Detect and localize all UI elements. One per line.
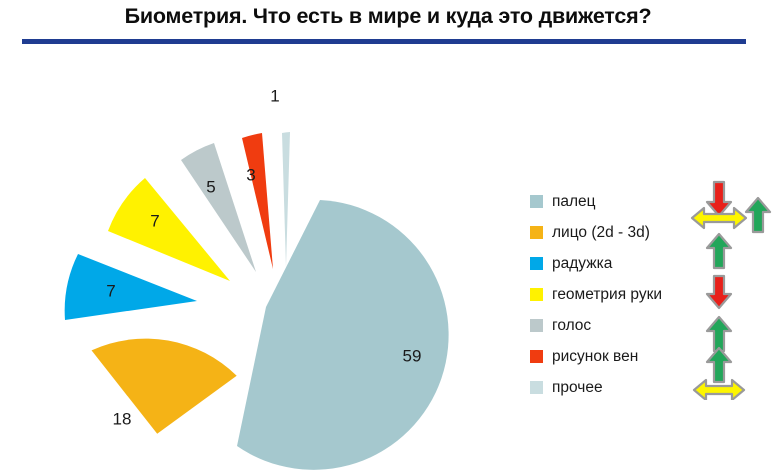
legend-label-vein-pattern: рисунок вен [552,349,638,365]
pie-slice-iris[interactable] [65,254,197,320]
legend-item-iris[interactable]: радужка [530,248,680,279]
trend-arrow-column [686,180,776,400]
arrow-down-icon [707,182,731,216]
legend-swatch-iris [530,257,543,270]
trend-arrows-svg [686,180,776,400]
legend-swatch-finger [530,195,543,208]
pie-label-voice: 5 [206,177,215,196]
pie-label-face: 18 [113,409,132,428]
pie-chart: 59 18 7 7 5 3 1 [0,52,510,472]
pie-slice-face[interactable] [84,332,240,441]
legend-label-voice: голос [552,318,591,334]
legend-label-iris: радужка [552,256,612,272]
legend-item-finger[interactable]: палец [530,186,680,217]
legend-swatch-vein-pattern [530,350,543,363]
header: Биометрия. Что есть в мире и куда это дв… [0,0,776,50]
arrow-up-icon [707,348,731,382]
legend-swatch-hand-geometry [530,288,543,301]
pie-label-hand-geometry: 7 [150,211,159,230]
page-title: Биометрия. Что есть в мире и куда это дв… [0,4,776,29]
legend-swatch-face [530,226,543,239]
chart-legend: палец лицо (2d - 3d) радужка геометрия р… [530,186,680,403]
legend-label-finger: палец [552,194,596,210]
pie-label-other: 1 [270,86,279,105]
legend-item-other[interactable]: прочее [530,372,680,403]
legend-label-face: лицо (2d - 3d) [552,225,650,241]
legend-item-hand-geometry[interactable]: геометрия руки [530,279,680,310]
pie-label-vein-pattern: 3 [246,165,255,184]
legend-item-face[interactable]: лицо (2d - 3d) [530,217,680,248]
title-divider [22,39,746,44]
arrow-down-icon [707,276,731,308]
pie-chart-svg: 59 18 7 7 5 3 1 [0,52,510,472]
pie-label-iris: 7 [106,281,115,300]
legend-item-vein-pattern[interactable]: рисунок вен [530,341,680,372]
legend-label-other: прочее [552,380,603,396]
arrow-up-icon [707,234,731,268]
legend-swatch-voice [530,319,543,332]
legend-label-hand-geometry: геометрия руки [552,287,662,303]
legend-swatch-other [530,381,543,394]
legend-item-voice[interactable]: голос [530,310,680,341]
arrow-up-icon [746,198,770,232]
pie-slice-other[interactable] [282,132,290,267]
arrow-up-icon [707,317,731,351]
pie-label-finger: 59 [403,346,422,365]
